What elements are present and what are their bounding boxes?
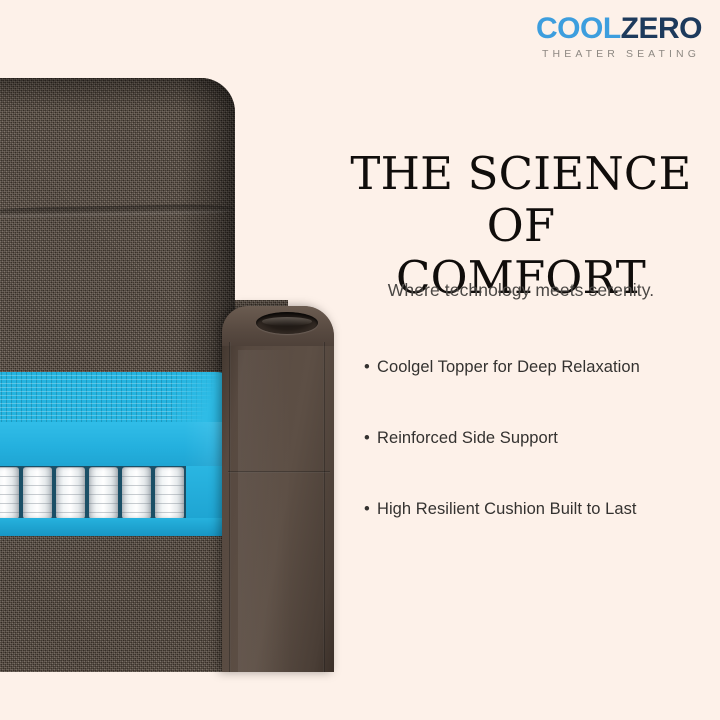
pocket-coil xyxy=(56,467,85,519)
cup-holder xyxy=(256,312,318,334)
feature-label: Reinforced Side Support xyxy=(377,429,558,447)
cushion-cutaway xyxy=(0,372,258,540)
pocket-coil xyxy=(122,467,151,519)
armrest-highlight xyxy=(238,350,292,672)
logo-word-zero: ZERO xyxy=(621,12,702,45)
headline-line-1: THE SCIENCE OF xyxy=(330,148,712,252)
armrest-seam-left xyxy=(229,342,231,672)
armrest-seam-right xyxy=(323,342,325,672)
chair-armrest xyxy=(222,306,334,672)
list-item: • Coolgel Topper for Deep Relaxation xyxy=(364,358,710,377)
pocket-coil-row xyxy=(0,466,186,520)
bullet-icon: • xyxy=(364,358,370,377)
product-image xyxy=(0,0,348,720)
bullet-icon: • xyxy=(364,500,370,519)
pocket-coil xyxy=(155,467,184,519)
logo-wordmark: COOLZERO xyxy=(536,14,702,44)
gel-foam-band xyxy=(0,422,258,468)
logo-word-cool: COOL xyxy=(536,12,621,45)
logo-tagline: THEATER SEATING xyxy=(536,49,700,60)
pocket-coil xyxy=(23,467,52,519)
armrest-seam-horizontal xyxy=(228,471,330,473)
list-item: • Reinforced Side Support xyxy=(364,429,710,448)
pocket-coil xyxy=(0,467,19,519)
subtitle: Where technology meets serenity. xyxy=(330,280,712,301)
pocket-coil xyxy=(89,467,118,519)
chair-backrest xyxy=(0,78,235,396)
poster-canvas: COOLZERO THEATER SEATING THE SCIENCE OF … xyxy=(0,0,720,720)
gel-base-strip xyxy=(0,518,258,536)
coolgel-topper-surface xyxy=(0,372,258,424)
bullet-icon: • xyxy=(364,429,370,448)
feature-label: Coolgel Topper for Deep Relaxation xyxy=(377,358,640,376)
cup-holder-rim xyxy=(262,317,312,326)
brand-logo[interactable]: COOLZERO THEATER SEATING xyxy=(536,14,702,60)
list-item: • High Resilient Cushion Built to Last xyxy=(364,500,710,519)
feature-label: High Resilient Cushion Built to Last xyxy=(377,500,637,518)
feature-list: • Coolgel Topper for Deep Relaxation • R… xyxy=(364,358,710,519)
